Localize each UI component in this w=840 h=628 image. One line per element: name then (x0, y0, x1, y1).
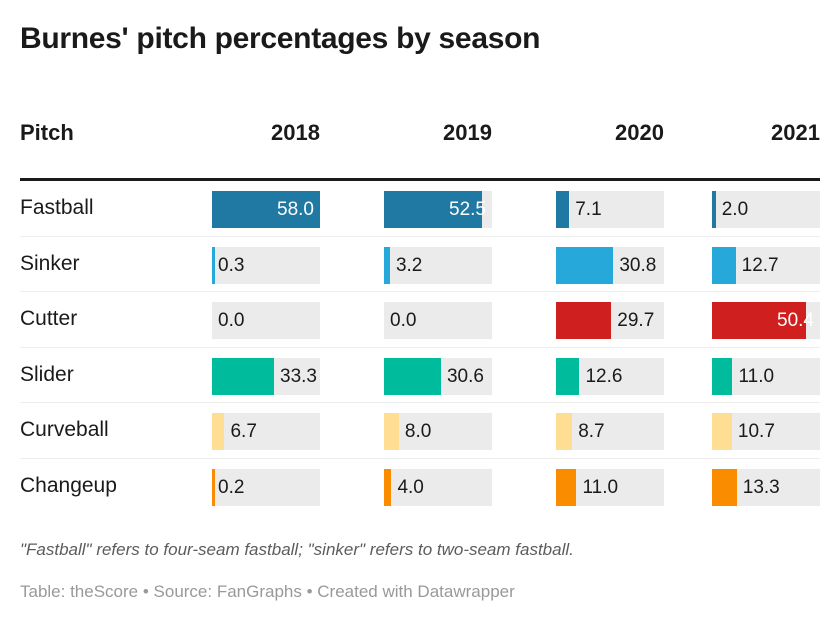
bar-value: 11.0 (582, 469, 618, 506)
bar-fill (712, 247, 736, 284)
row-label-changeup: Changeup (20, 459, 117, 514)
bar-value: 8.7 (578, 413, 604, 450)
bar-value: 2.0 (722, 191, 748, 228)
bar-value: 29.7 (617, 302, 654, 339)
table-body: Fastball58.052.57.12.0Sinker0.33.230.812… (20, 181, 820, 513)
bar-value: 10.7 (738, 413, 775, 450)
bar-fill (556, 247, 613, 284)
table-row: Changeup0.24.011.013.3 (20, 459, 820, 514)
bar-cell: 30.6 (384, 358, 492, 395)
bar-fill (712, 191, 716, 228)
bar-value: 30.6 (447, 358, 484, 395)
bar-cell: 58.0 (212, 191, 320, 228)
bar-track (212, 413, 320, 450)
bar-cell: 0.0 (384, 302, 492, 339)
bar-cell: 8.7 (556, 413, 664, 450)
bar-cell: 0.0 (212, 302, 320, 339)
bar-value: 8.0 (405, 413, 431, 450)
bar-cell: 11.0 (712, 358, 820, 395)
bar-value: 11.0 (738, 358, 774, 395)
table-row: Sinker0.33.230.812.7 (20, 237, 820, 293)
bar-value: 33.3 (280, 358, 317, 395)
bar-fill (712, 469, 737, 506)
column-header-2021: 2021 (712, 118, 820, 148)
bar-fill (384, 413, 399, 450)
bar-fill (384, 469, 391, 506)
bar-cell: 12.7 (712, 247, 820, 284)
bar-fill (556, 358, 579, 395)
bar-value: 13.3 (743, 469, 780, 506)
bar-fill (384, 247, 390, 284)
pitch-percentage-table: Pitch2018201920202021 Fastball58.052.57.… (20, 118, 820, 166)
bar-cell: 11.0 (556, 469, 664, 506)
bar-cell: 52.5 (384, 191, 492, 228)
bar-value: 0.2 (218, 469, 244, 506)
bar-cell: 8.0 (384, 413, 492, 450)
bar-fill (212, 413, 224, 450)
bar-value: 12.6 (585, 358, 622, 395)
column-header-2018: 2018 (212, 118, 320, 148)
bar-fill (212, 247, 215, 284)
table-header-row: Pitch2018201920202021 (20, 118, 820, 166)
bar-cell: 33.3 (212, 358, 320, 395)
source-credit: Table: theScore • Source: FanGraphs • Cr… (20, 582, 515, 602)
bar-cell: 2.0 (712, 191, 820, 228)
bar-track (384, 413, 492, 450)
table-row: Slider33.330.612.611.0 (20, 348, 820, 404)
column-header-pitch: Pitch (20, 118, 74, 148)
bar-cell: 10.7 (712, 413, 820, 450)
bar-fill (212, 358, 274, 395)
bar-fill (212, 469, 215, 506)
bar-value: 0.0 (218, 302, 244, 339)
footnote: "Fastball" refers to four-seam fastball;… (20, 540, 574, 560)
table-row: Cutter0.00.029.750.4 (20, 292, 820, 348)
column-header-2020: 2020 (556, 118, 664, 148)
bar-cell: 13.3 (712, 469, 820, 506)
page-title: Burnes' pitch percentages by season (20, 22, 540, 56)
bar-value: 0.3 (218, 247, 244, 284)
bar-track (556, 191, 664, 228)
bar-value: 58.0 (277, 191, 314, 228)
row-label-curveball: Curveball (20, 403, 109, 458)
bar-value: 7.1 (575, 191, 601, 228)
bar-value: 6.7 (230, 413, 256, 450)
bar-cell: 50.4 (712, 302, 820, 339)
bar-cell: 12.6 (556, 358, 664, 395)
bar-value: 12.7 (742, 247, 779, 284)
bar-cell: 0.3 (212, 247, 320, 284)
bar-cell: 4.0 (384, 469, 492, 506)
bar-fill (556, 191, 569, 228)
table-row: Curveball6.78.08.710.7 (20, 403, 820, 459)
row-label-fastball: Fastball (20, 181, 94, 236)
bar-fill (556, 302, 611, 339)
bar-value: 30.8 (619, 247, 656, 284)
bar-fill (556, 413, 572, 450)
bar-fill (712, 413, 732, 450)
bar-cell: 29.7 (556, 302, 664, 339)
bar-cell: 0.2 (212, 469, 320, 506)
bar-value: 4.0 (397, 469, 423, 506)
datawrapper-table-chart: Burnes' pitch percentages by season Pitc… (0, 0, 840, 628)
row-label-cutter: Cutter (20, 292, 77, 347)
bar-fill (556, 469, 576, 506)
bar-value: 0.0 (390, 302, 416, 339)
bar-cell: 3.2 (384, 247, 492, 284)
bar-fill (712, 358, 732, 395)
bar-fill (384, 358, 441, 395)
bar-track (556, 413, 664, 450)
bar-value: 50.4 (777, 302, 814, 339)
bar-cell: 30.8 (556, 247, 664, 284)
row-label-sinker: Sinker (20, 237, 80, 292)
bar-value: 3.2 (396, 247, 422, 284)
bar-cell: 6.7 (212, 413, 320, 450)
bar-cell: 7.1 (556, 191, 664, 228)
bar-value: 52.5 (449, 191, 486, 228)
table-row: Fastball58.052.57.12.0 (20, 181, 820, 237)
column-header-2019: 2019 (384, 118, 492, 148)
row-label-slider: Slider (20, 348, 74, 403)
